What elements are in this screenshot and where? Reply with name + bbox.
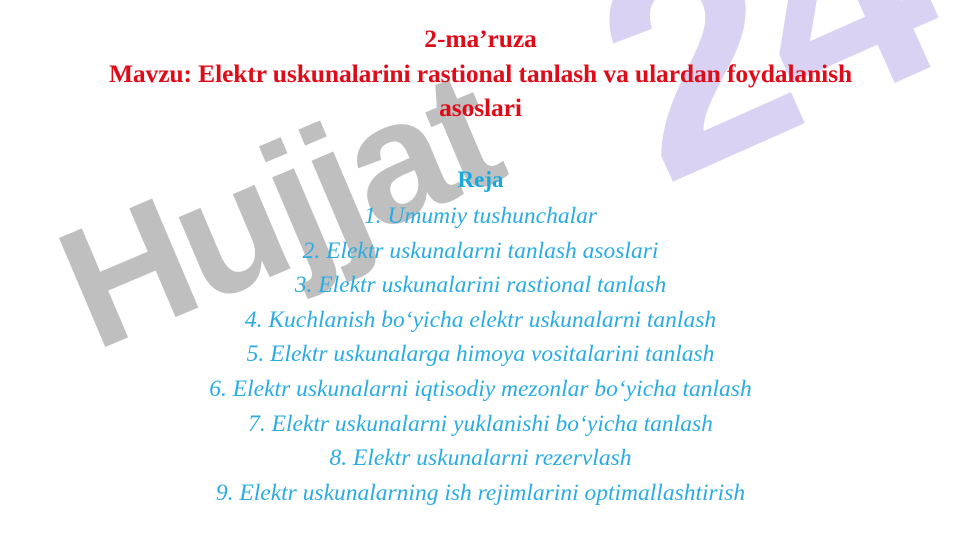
title-line-1: 2-ma’ruza xyxy=(46,22,915,57)
list-item: 1. Umumiy tushunchalar xyxy=(0,199,961,234)
presentation-slide: Hujjat 24 2-ma’ruza Mavzu: Elektr uskuna… xyxy=(0,0,961,540)
list-item: 3. Elektr uskunalarini rastional tanlash xyxy=(0,268,961,303)
list-item: 9. Elektr uskunalarning ish rejimlarini … xyxy=(0,476,961,511)
outline-heading: Reja xyxy=(0,166,961,194)
slide-title-block: 2-ma’ruza Mavzu: Elektr uskunalarini ras… xyxy=(46,22,915,126)
title-line-3: asoslari xyxy=(46,91,915,126)
list-item: 2. Elektr uskunalarni tanlash asoslari xyxy=(0,234,961,269)
list-item: 7. Elektr uskunalarni yuklanishi bo‘yich… xyxy=(0,407,961,442)
outline-list: 1. Umumiy tushunchalar 2. Elektr uskunal… xyxy=(0,199,961,510)
list-item: 4. Kuchlanish bo‘yicha elektr uskunalarn… xyxy=(0,303,961,338)
list-item: 6. Elektr uskunalarni iqtisodiy mezonlar… xyxy=(0,372,961,407)
slide-content: 2-ma’ruza Mavzu: Elektr uskunalarini ras… xyxy=(0,0,961,540)
list-item: 8. Elektr uskunalarni rezervlash xyxy=(0,441,961,476)
title-line-2: Mavzu: Elektr uskunalarini rastional tan… xyxy=(46,57,915,92)
list-item: 5. Elektr uskunalarga himoya vositalarin… xyxy=(0,337,961,372)
